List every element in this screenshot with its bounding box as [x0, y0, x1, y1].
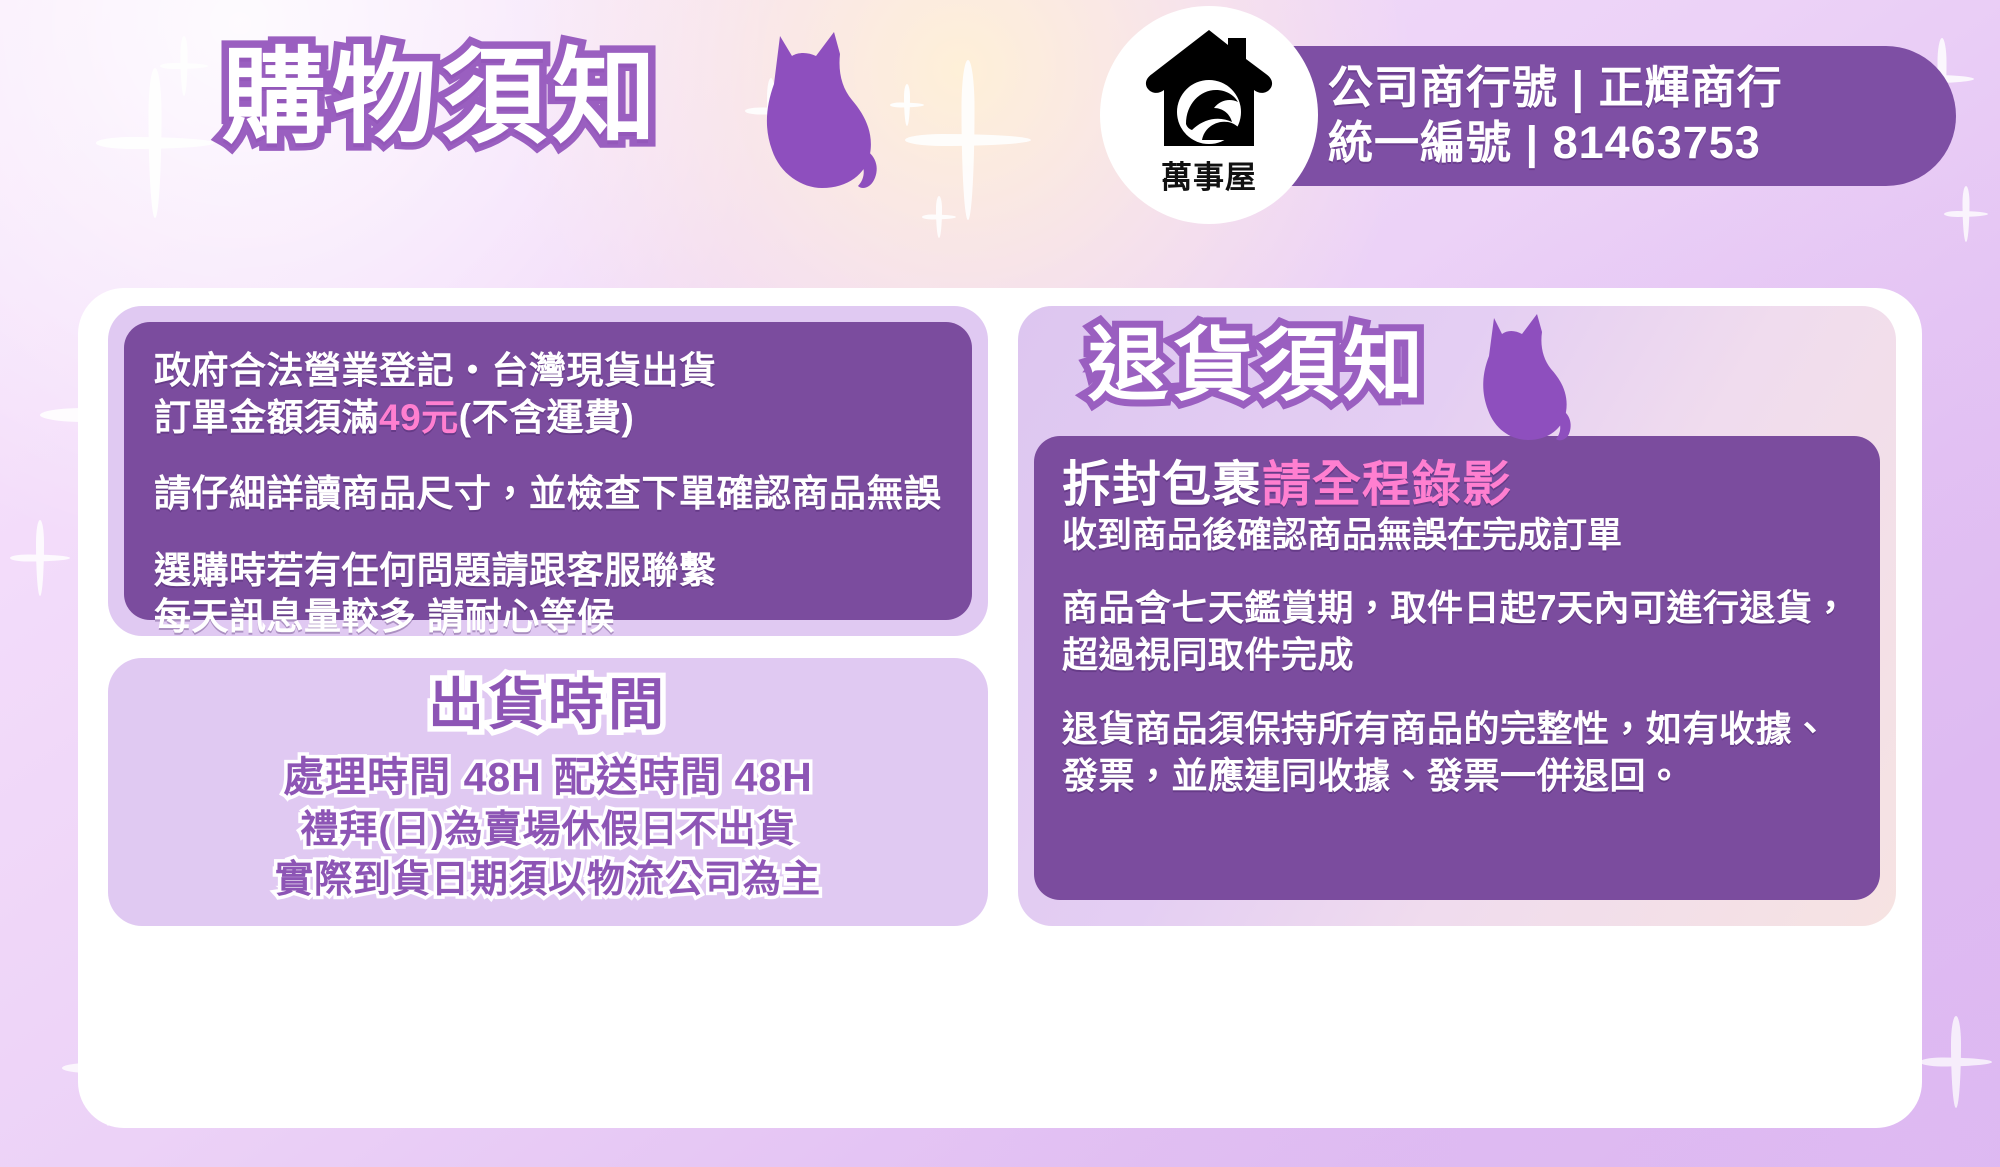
return-lead-white: 拆封包裹	[1062, 458, 1262, 512]
return-lead-pink: 請全程錄影	[1262, 458, 1512, 512]
return-policy-header: 退貨須知	[1034, 318, 1880, 436]
return-policy-inner: 拆封包裹請全程錄影 收到商品後確認商品無誤在完成訂單 商品含七天鑑賞期，取件日起…	[1034, 436, 1880, 900]
shopping-notice-banner: 購物須知 公司商行號 | 正輝商行 統一編號 | 81463753 萬事屋	[0, 0, 2000, 1167]
return-period-paragraph: 商品含七天鑑賞期，取件日起7天內可進行退貨，超過視同取件完成	[1062, 585, 1852, 679]
tax-id-line: 統一編號 | 81463753	[1328, 116, 1956, 171]
notice-paragraph-1: 政府合法營業登記・台灣現貨出貨 訂單金額須滿49元(不含運費)	[154, 348, 942, 441]
return-condition-paragraph: 退貨商品須保持所有商品的完整性，如有收據、發票，並應連同收據、發票一併退回。	[1062, 706, 1852, 800]
notice-min-order-pre: 訂單金額須滿	[154, 397, 379, 438]
notice-paragraph-2: 請仔細詳讀商品尺寸，並檢查下單確認商品無誤	[154, 471, 942, 518]
shopping-notice-inner: 政府合法營業登記・台灣現貨出貨 訂單金額須滿49元(不含運費) 請仔細詳讀商品尺…	[124, 322, 972, 620]
cat-silhouette-icon	[1474, 312, 1574, 442]
notice-line-registration: 政府合法營業登記・台灣現貨出貨	[154, 350, 717, 391]
left-column: 政府合法營業登記・台灣現貨出貨 訂單金額須滿49元(不含運費) 請仔細詳讀商品尺…	[108, 306, 988, 926]
logo-wordmark: 萬事屋	[1161, 152, 1257, 197]
notice-paragraph-3: 選購時若有任何問題請跟客服聯繫 每天訊息量較多 請耐心等候	[154, 548, 942, 641]
shipping-time-heading: 出貨時間	[128, 674, 968, 736]
return-confirm-line: 收到商品後確認商品無誤在完成訂單	[1062, 515, 1852, 557]
right-column: 退貨須知 拆封包裹請全程錄影 收到商品後確認商品無誤在完成訂單 商品含七天鑑賞期…	[1018, 306, 1896, 926]
shipping-time-body: 處理時間 48H 配送時間 48H 禮拜(日)為賣場休假日不出貨 實際到貨日期須…	[128, 750, 968, 907]
shopping-notice-card: 政府合法營業登記・台灣現貨出貨 訂單金額須滿49元(不含運費) 請仔細詳讀商品尺…	[108, 306, 988, 636]
notice-min-order-post: (不含運費)	[459, 397, 635, 438]
cat-silhouette-icon	[756, 28, 880, 192]
page-title: 購物須知	[222, 46, 662, 150]
return-policy-card: 退貨須知 拆封包裹請全程錄影 收到商品後確認商品無誤在完成訂單 商品含七天鑑賞期…	[1018, 306, 1896, 926]
notice-min-order-amount: 49元	[379, 397, 459, 438]
sparkle-icon	[1920, 1016, 1992, 1108]
notice-patience-line: 每天訊息量較多 請耐心等候	[154, 596, 615, 637]
shipping-holiday-line: 禮拜(日)為賣場休假日不出貨	[128, 805, 968, 856]
house-cat-logo-icon	[1142, 28, 1276, 150]
company-info-pill: 公司商行號 | 正輝商行 統一編號 | 81463753	[1250, 46, 1956, 186]
shipping-processing-line: 處理時間 48H 配送時間 48H	[128, 750, 968, 805]
shipping-time-card: 出貨時間 處理時間 48H 配送時間 48H 禮拜(日)為賣場休假日不出貨 實際…	[108, 658, 988, 926]
brand-logo-badge: 萬事屋	[1100, 6, 1318, 224]
sparkle-icon	[10, 520, 70, 596]
notice-contact-line: 選購時若有任何問題請跟客服聯繫	[154, 550, 717, 591]
banner-header: 購物須知 公司商行號 | 正輝商行 統一編號 | 81463753 萬事屋	[0, 0, 2000, 210]
shipping-logistics-line: 實際到貨日期須以物流公司為主	[128, 855, 968, 906]
return-policy-title: 退貨須知	[1088, 326, 1428, 406]
company-name-line: 公司商行號 | 正輝商行	[1328, 61, 1956, 116]
return-lead-line: 拆封包裹請全程錄影	[1062, 458, 1852, 513]
